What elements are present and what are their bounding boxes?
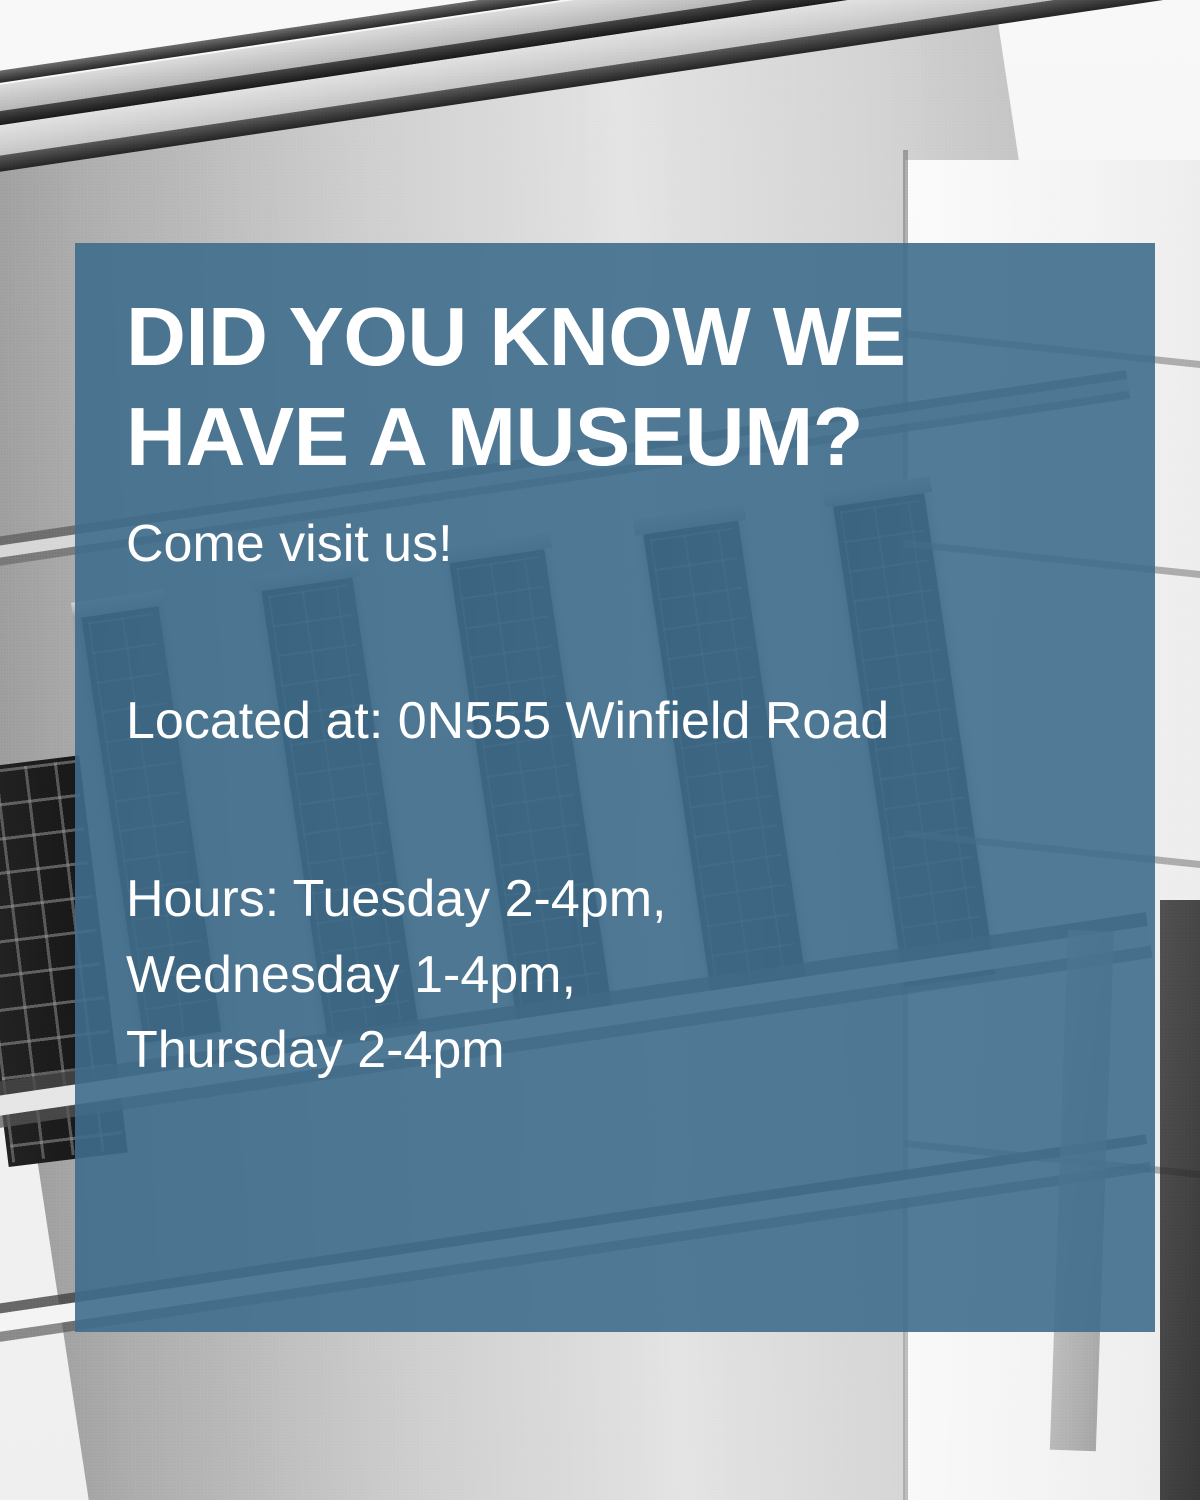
subheading: Come visit us! xyxy=(126,486,1126,577)
poster-text-block: DID YOU KNOW WE HAVE A MUSEUM? Come visi… xyxy=(126,243,1126,1332)
page-title: DID YOU KNOW WE HAVE A MUSEUM? xyxy=(126,243,1106,486)
hours-line-wednesday: Wednesday 1-4pm, xyxy=(126,938,1126,1013)
poster: DID YOU KNOW WE HAVE A MUSEUM? Come visi… xyxy=(0,0,1200,1500)
hours-line-tuesday: Hours: Tuesday 2-4pm, xyxy=(126,862,1126,937)
address-line: Located at: 0N555 Winfield Road xyxy=(126,577,1126,754)
hours-block: Hours: Tuesday 2-4pm, Wednesday 1-4pm, T… xyxy=(126,754,1126,1088)
hours-line-thursday: Thursday 2-4pm xyxy=(126,1013,1126,1088)
